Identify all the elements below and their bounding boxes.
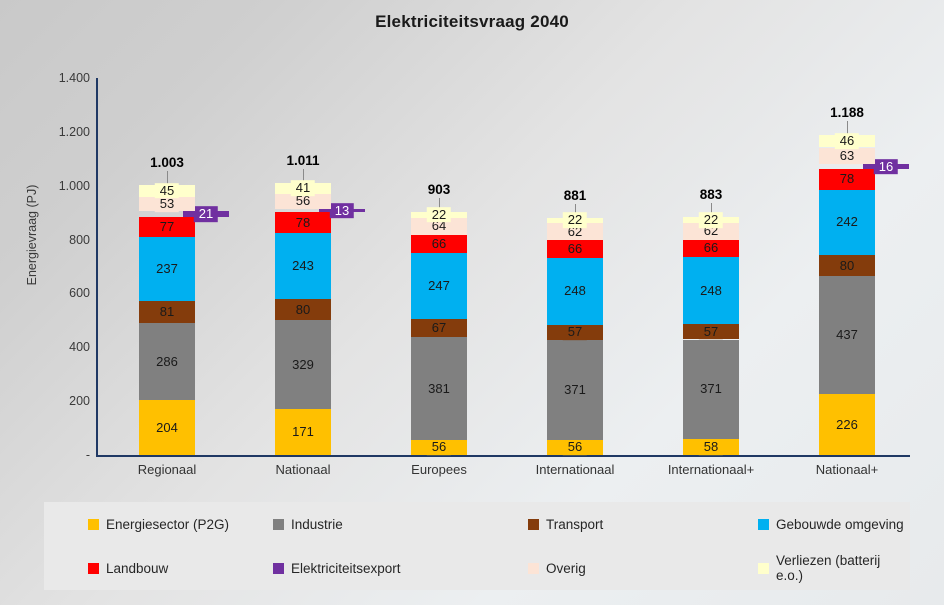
bar-segment-value: 80 (835, 258, 859, 274)
y-axis-tick: 600 (30, 286, 90, 300)
bar-segment-value: 371 (696, 383, 726, 397)
legend-label: Overig (546, 561, 586, 576)
bar-segment-value: 56 (563, 440, 587, 456)
bar-segment[interactable]: 22 (683, 217, 739, 223)
bar-segment[interactable]: 80 (819, 255, 875, 277)
bar-segment[interactable]: 286 (139, 323, 195, 400)
bar-group: 1.0111713298024378135641 (235, 78, 371, 455)
bar-group: 9035638167247666422 (371, 78, 507, 455)
bar-segment-value: 22 (563, 213, 587, 229)
bar-segment-value: 371 (560, 383, 590, 397)
legend-swatch (528, 519, 539, 530)
x-axis-label: Nationaal (235, 462, 371, 477)
y-axis-tick: - (30, 448, 90, 462)
stacked-bar[interactable]: 5837157248666222 (683, 78, 739, 455)
bar-segment[interactable]: 237 (139, 237, 195, 301)
bar-segment-value: 226 (832, 418, 862, 432)
bar-segment-value: 66 (699, 241, 723, 257)
y-axis-tick: 800 (30, 233, 90, 247)
y-axis-tick: 400 (30, 340, 90, 354)
bar-segment[interactable]: 77 (139, 217, 195, 238)
legend-row-top: Energiesector (P2G)IndustrieTransportGeb… (44, 502, 910, 546)
legend-item[interactable]: Industrie (273, 502, 343, 546)
bar-segment-value: 66 (427, 236, 451, 252)
chart-container: Elektriciteitsvraag 2040 Energievraag (P… (0, 0, 944, 605)
bar-segment[interactable]: 204 (139, 400, 195, 455)
legend-item[interactable]: Verliezen (batterij e.o.) (758, 546, 910, 590)
bar-segment-value: 81 (155, 304, 179, 320)
bar-segment-value: 77 (155, 219, 179, 235)
stacked-bar[interactable]: 1713298024378135641 (275, 78, 331, 455)
bar-segment[interactable]: 226 (819, 394, 875, 455)
bar-segment-value: 41 (291, 180, 315, 196)
bar-segment-value: 243 (288, 259, 318, 273)
legend-item[interactable]: Elektriciteitsexport (273, 546, 401, 590)
bar-segment[interactable]: 248 (547, 258, 603, 325)
legend-swatch (273, 563, 284, 574)
bar-segment[interactable]: 41 (275, 183, 331, 194)
bar-segment-value: 66 (563, 241, 587, 257)
bar-segment[interactable]: 63 (819, 148, 875, 165)
x-axis-label: Internationaal (507, 462, 643, 477)
bar-segment-value: 63 (835, 148, 859, 164)
bar-segment-value: 78 (291, 215, 315, 231)
bar-segment-value: 78 (835, 171, 859, 187)
x-axis-line (96, 455, 910, 457)
bar-segment-value: 56 (427, 440, 451, 456)
bar-segment-value: 16 (874, 159, 898, 175)
bar-segment[interactable]: 66 (547, 240, 603, 258)
bar-segment[interactable]: 329 (275, 320, 331, 409)
legend-label: Industrie (291, 517, 343, 532)
legend-item[interactable]: Energiesector (P2G) (88, 502, 229, 546)
bar-segment[interactable]: 45 (139, 185, 195, 197)
bars-area: 1.00320428681237772153451.01117132980243… (96, 78, 910, 455)
bar-group: 8815637157248666222 (507, 78, 643, 455)
bar-segment[interactable]: 22 (411, 212, 467, 218)
legend-label: Energiesector (P2G) (106, 517, 229, 532)
bar-segment-value: 437 (832, 328, 862, 342)
bar-segment-value: 21 (194, 206, 218, 222)
stacked-bar[interactable]: 5638167247666422 (411, 78, 467, 455)
bar-segment[interactable]: 22 (547, 218, 603, 224)
legend-swatch (758, 519, 769, 530)
bar-segment[interactable]: 56 (411, 440, 467, 455)
stacked-bar[interactable]: 2042868123777215345 (139, 78, 195, 455)
legend-swatch (758, 563, 769, 574)
bar-segment-value: 204 (152, 421, 182, 435)
bar-segment[interactable]: 78 (275, 212, 331, 233)
bar-segment[interactable]: 16 (863, 164, 909, 168)
bar-segment[interactable]: 53 (139, 197, 195, 211)
y-axis-tick: 1.000 (30, 179, 90, 193)
bar-segment-value: 22 (699, 212, 723, 228)
legend-item[interactable]: Landbouw (88, 546, 168, 590)
x-axis-label: Regionaal (99, 462, 235, 477)
bar-segment-value: 237 (152, 263, 182, 277)
legend-item[interactable]: Transport (528, 502, 603, 546)
legend-row-bottom: LandbouwElektriciteitsexportOverigVerlie… (44, 546, 910, 590)
bar-group: 8835837157248666222 (643, 78, 779, 455)
bar-segment[interactable]: 66 (683, 240, 739, 258)
bar-segment[interactable]: 371 (547, 340, 603, 440)
bar-segment[interactable]: 57 (683, 324, 739, 339)
bar-group: 1.0032042868123777215345 (99, 78, 235, 455)
legend-item[interactable]: Overig (528, 546, 586, 590)
bar-segment[interactable]: 437 (819, 276, 875, 394)
bar-segment-value: 80 (291, 302, 315, 318)
y-axis-tick: 1.400 (30, 71, 90, 85)
bar-segment[interactable]: 13 (319, 209, 365, 213)
bar-segment[interactable]: 58 (683, 439, 739, 455)
legend-swatch (88, 519, 99, 530)
bar-group: 1.1882264378024278166346 (779, 78, 915, 455)
bar-segment[interactable]: 46 (819, 135, 875, 147)
legend-swatch (528, 563, 539, 574)
bar-segment[interactable]: 56 (547, 440, 603, 455)
x-axis-label: Europees (371, 462, 507, 477)
bar-segment[interactable]: 247 (411, 253, 467, 320)
bar-segment-value: 171 (288, 425, 318, 439)
bar-segment-value: 67 (427, 320, 451, 336)
legend-swatch (273, 519, 284, 530)
bar-segment[interactable]: 80 (275, 299, 331, 321)
legend-label: Verliezen (batterij e.o.) (776, 553, 910, 583)
bar-segment-value: 58 (699, 439, 723, 455)
bar-segment[interactable]: 171 (275, 409, 331, 455)
x-axis-label: Internationaal+ (643, 462, 779, 477)
bar-segment-value: 247 (424, 279, 454, 293)
bar-segment-value: 13 (330, 203, 354, 219)
bar-segment[interactable]: 67 (411, 319, 467, 337)
bar-segment-value: 57 (699, 324, 723, 340)
bar-segment-value: 22 (427, 207, 451, 223)
legend-swatch (88, 563, 99, 574)
legend-label: Landbouw (106, 561, 168, 576)
y-axis-tick: 1.200 (30, 125, 90, 139)
y-axis-tick: 200 (30, 394, 90, 408)
legend-label: Transport (546, 517, 603, 532)
bar-segment-value: 46 (835, 133, 859, 149)
bar-segment[interactable]: 81 (139, 301, 195, 323)
legend-item[interactable]: Gebouwde omgeving (758, 502, 904, 546)
bar-segment-value: 45 (155, 183, 179, 199)
bar-segment[interactable]: 371 (683, 340, 739, 440)
legend-label: Gebouwde omgeving (776, 517, 904, 532)
bar-segment-value: 286 (152, 355, 182, 369)
legend: Energiesector (P2G)IndustrieTransportGeb… (44, 502, 910, 590)
bar-segment-value: 248 (560, 284, 590, 298)
bar-segment[interactable]: 57 (547, 325, 603, 340)
bar-segment[interactable]: 66 (411, 235, 467, 253)
x-axis-labels: RegionaalNationaalEuropeesInternationaal… (96, 462, 910, 490)
stacked-bar[interactable]: 5637157248666222 (547, 78, 603, 455)
bar-segment[interactable]: 21 (183, 211, 229, 217)
legend-label: Elektriciteitsexport (291, 561, 401, 576)
bar-segment[interactable]: 248 (683, 257, 739, 324)
bar-segment[interactable]: 381 (411, 337, 467, 440)
chart-title: Elektriciteitsvraag 2040 (0, 12, 944, 32)
bar-segment[interactable]: 78 (819, 169, 875, 190)
stacked-bar[interactable]: 2264378024278166346 (819, 78, 875, 455)
bar-segment-value: 381 (424, 382, 454, 396)
bar-segment-value: 329 (288, 358, 318, 372)
x-axis-label: Nationaal+ (779, 462, 915, 477)
bar-segment[interactable]: 243 (275, 233, 331, 298)
bar-segment-value: 57 (563, 325, 587, 341)
bar-segment-value: 248 (696, 284, 726, 298)
bar-segment-value: 242 (832, 216, 862, 230)
bar-segment[interactable]: 242 (819, 190, 875, 255)
